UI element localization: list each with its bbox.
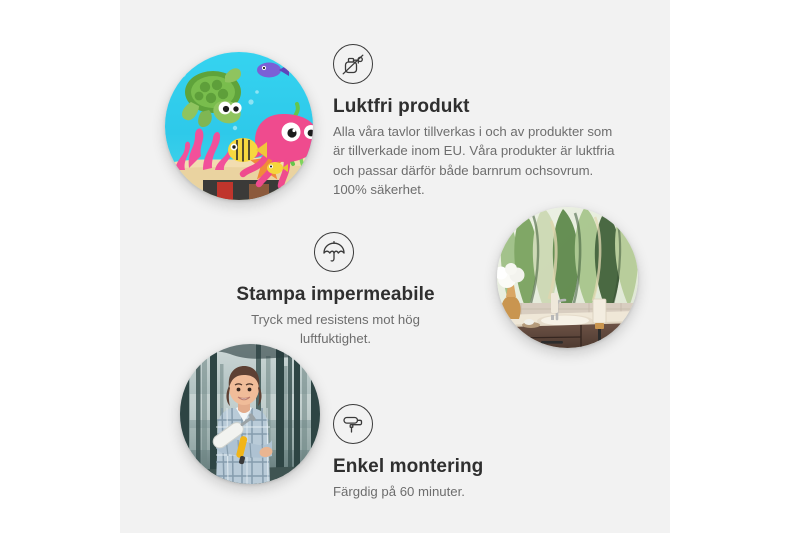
feature-waterproof-text: Stampa impermeabile Tryck med resistens … xyxy=(218,284,453,349)
feature-title: Stampa impermeabile xyxy=(218,284,453,306)
feature-odorless-text: Luktfri produkt Alla våra tavlor tillver… xyxy=(333,96,625,200)
feature-title: Luktfri produkt xyxy=(333,96,625,118)
feature-title: Enkel montering xyxy=(333,456,563,478)
feature-body: Alla våra tavlor tillverkas i och av pro… xyxy=(333,122,625,200)
feature-body: Färgdig på 60 minuter. xyxy=(333,482,563,502)
umbrella-icon xyxy=(314,232,354,272)
paint-roller-icon xyxy=(333,404,373,444)
promo-infographic: Luktfri produkt Alla våra tavlor tillver… xyxy=(0,0,800,533)
underwater-cartoon-scene-image xyxy=(165,52,313,200)
feature-body: Tryck med resistens mot hög luftfuktighe… xyxy=(218,310,453,349)
bathroom-vanity-image xyxy=(497,207,638,348)
perfume-bottle-crossed-out-icon xyxy=(333,44,373,84)
feature-easy-mounting-text: Enkel montering Färgdig på 60 minuter. xyxy=(333,456,563,501)
woman-paint-roller-forest-image xyxy=(180,344,320,484)
